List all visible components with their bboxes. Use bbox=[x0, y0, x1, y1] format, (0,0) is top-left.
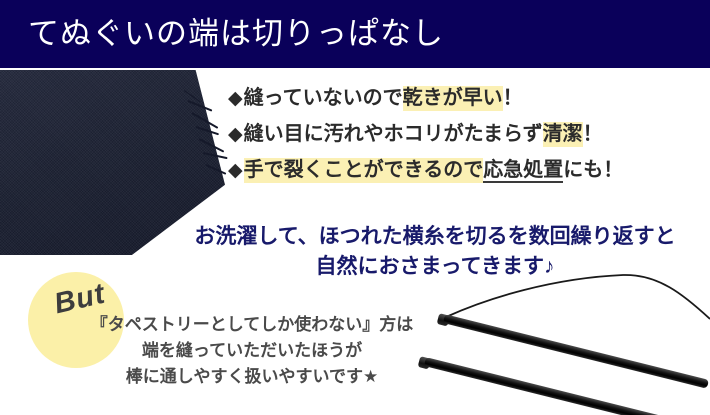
care-instruction-line-1: お洗濯して、ほつれた横糸を切るを数回繰り返すと bbox=[160, 222, 710, 252]
hanging-cord bbox=[446, 275, 710, 319]
bullet-text-suffix: ！ bbox=[583, 123, 603, 145]
bullet-text-plain: 縫い目に汚れやホコリがたまらず bbox=[244, 123, 543, 145]
diamond-bullet-icon: ◆ bbox=[228, 124, 243, 145]
tapestry-note-line-3: 棒に通しやすく扱いやすいです★ bbox=[52, 364, 452, 390]
header-bar: てぬぐいの端は切りっぱなし bbox=[0, 0, 710, 68]
list-item: ◆縫っていないので乾きが早い！ bbox=[228, 86, 710, 111]
diamond-bullet-icon: ◆ bbox=[228, 88, 243, 109]
diamond-bullet-icon: ◆ bbox=[228, 160, 243, 181]
bullet-text-suffix: にも！ bbox=[563, 159, 623, 181]
tapestry-rods-photo bbox=[418, 272, 710, 415]
benefit-list: ◆縫っていないので乾きが早い！ ◆縫い目に汚れやホコリがたまらず清潔！ ◆手で裂… bbox=[228, 86, 710, 194]
promo-banner: てぬぐいの端は切りっぱなし ◆縫っていないので乾きが早い！ ◆縫い目に汚れやホコ… bbox=[0, 0, 710, 415]
tapestry-note: 『タペストリーとしてしか使わない』方は 端を縫っていただいたほうが 棒に通しやす… bbox=[52, 312, 452, 390]
bullet-text-suffix: ！ bbox=[503, 87, 523, 109]
page-title: てぬぐいの端は切りっぱなし bbox=[28, 12, 444, 56]
bullet-text-plain: 縫っていないので bbox=[244, 87, 403, 109]
bullet-text-highlight: 清潔 bbox=[543, 122, 583, 147]
tapestry-note-line-1: 『タペストリーとしてしか使わない』方は bbox=[52, 312, 452, 338]
bullet-text-highlight: 乾きが早い bbox=[403, 86, 503, 111]
bullet-text-underline: 応急処置 bbox=[483, 159, 563, 183]
list-item: ◆手で裂くことができるので応急処置にも！ bbox=[228, 158, 710, 183]
list-item: ◆縫い目に汚れやホコリがたまらず清潔！ bbox=[228, 122, 710, 147]
tapestry-note-line-2: 端を縫っていただいたほうが bbox=[52, 338, 452, 364]
bullet-text-highlight: 手で裂くことができるので bbox=[244, 158, 484, 183]
